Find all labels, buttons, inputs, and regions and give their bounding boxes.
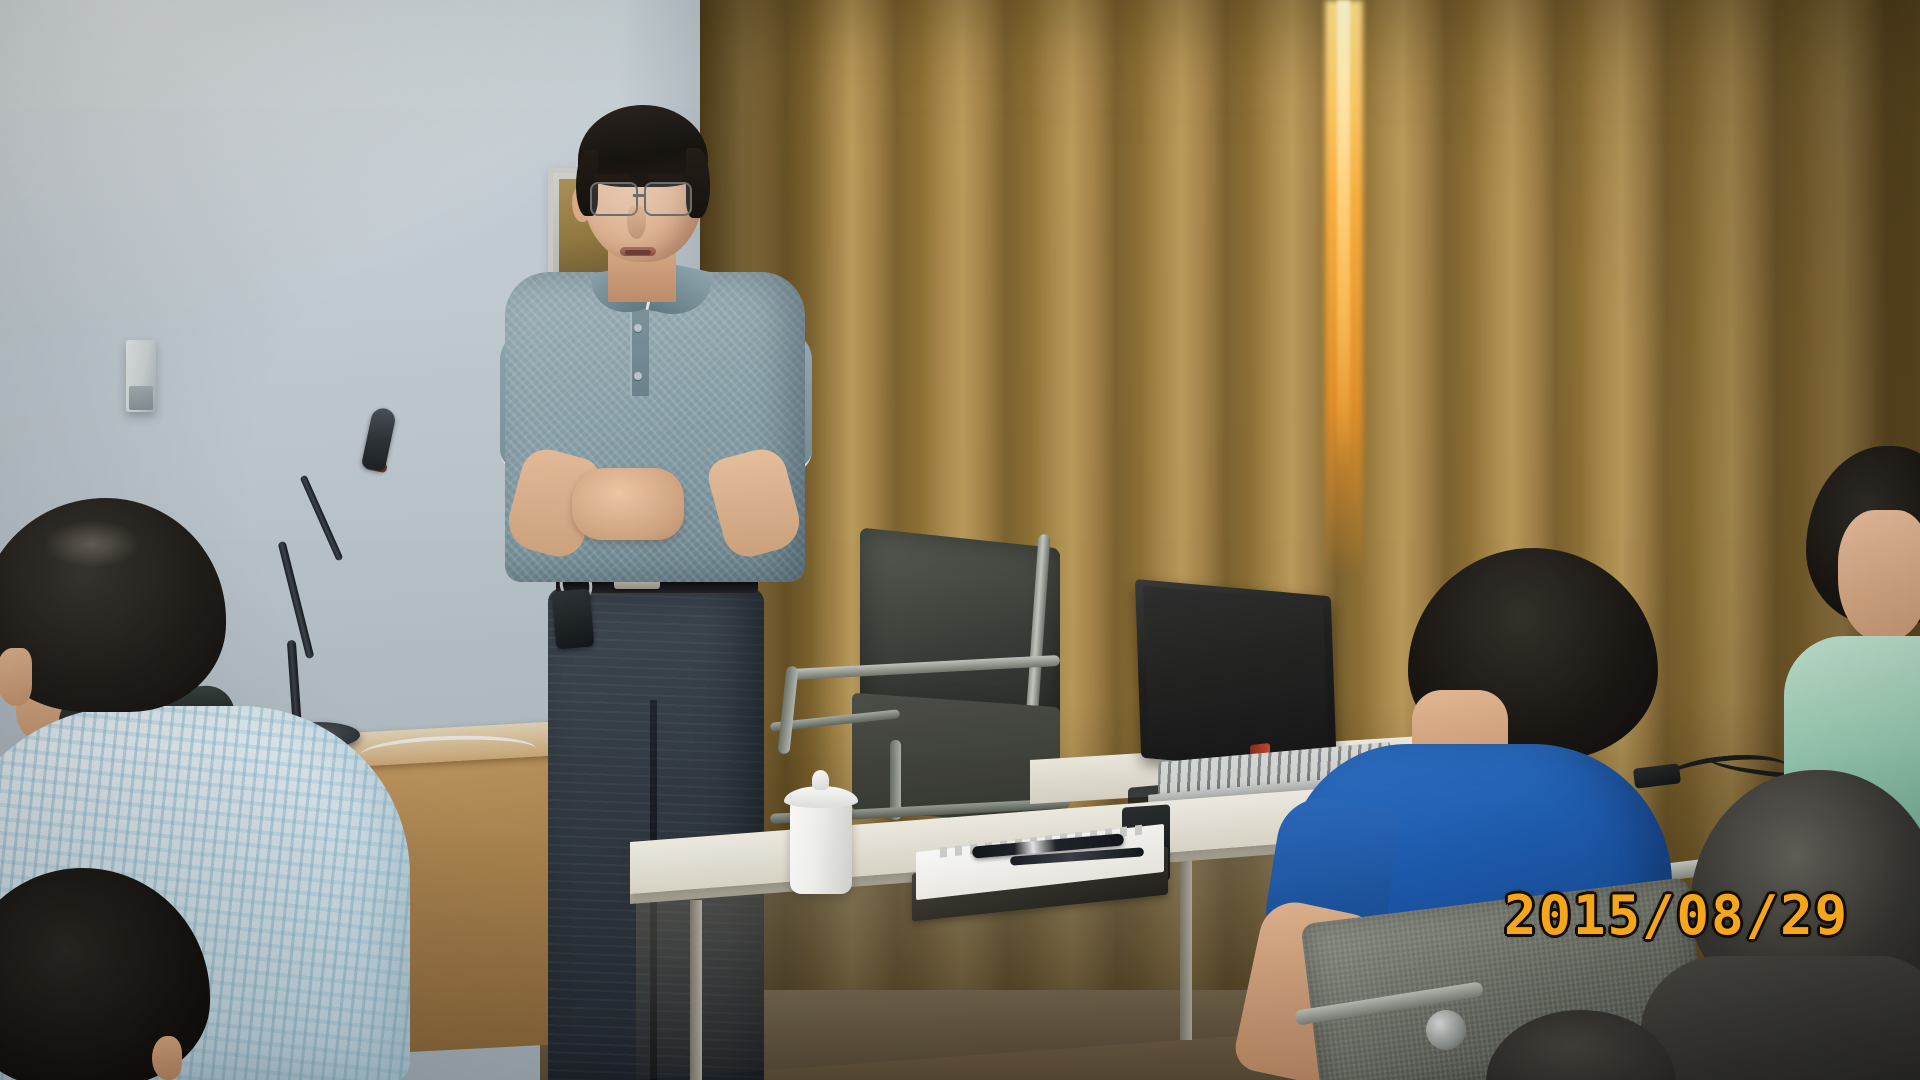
presenter-shirt-button-bottom [634, 372, 642, 380]
table-leg-left [690, 900, 702, 1080]
glasses-lens-right [644, 182, 692, 216]
photo-canvas: 2015/08/29 [0, 0, 1920, 1080]
laptop-screen [1143, 586, 1329, 764]
attendee-far-right-face [1838, 510, 1920, 642]
attendee-front-left-ear [0, 648, 32, 706]
attendee-right-foreground-body [1640, 956, 1920, 1080]
presenter-belt-pouch [552, 588, 595, 649]
presenter-hands [572, 468, 684, 540]
light-gap-core [1337, 0, 1350, 470]
presenter-shirt-button-top [634, 324, 642, 332]
presenter-nose [627, 205, 646, 239]
wall-switch [126, 340, 156, 412]
table-leg-right [1180, 860, 1192, 1040]
presenter-mouth-opening [625, 250, 651, 255]
camera-timestamp: 2015/08/29 [1504, 884, 1849, 947]
attendee-bottom-left-ear [152, 1036, 182, 1080]
glasses-bridge [633, 194, 646, 197]
attendee-front-left-hair-highlight [44, 520, 140, 568]
presenter-shirt-placket [630, 300, 649, 396]
tea-cup-knob [812, 770, 829, 790]
tea-cup-body [790, 800, 852, 894]
